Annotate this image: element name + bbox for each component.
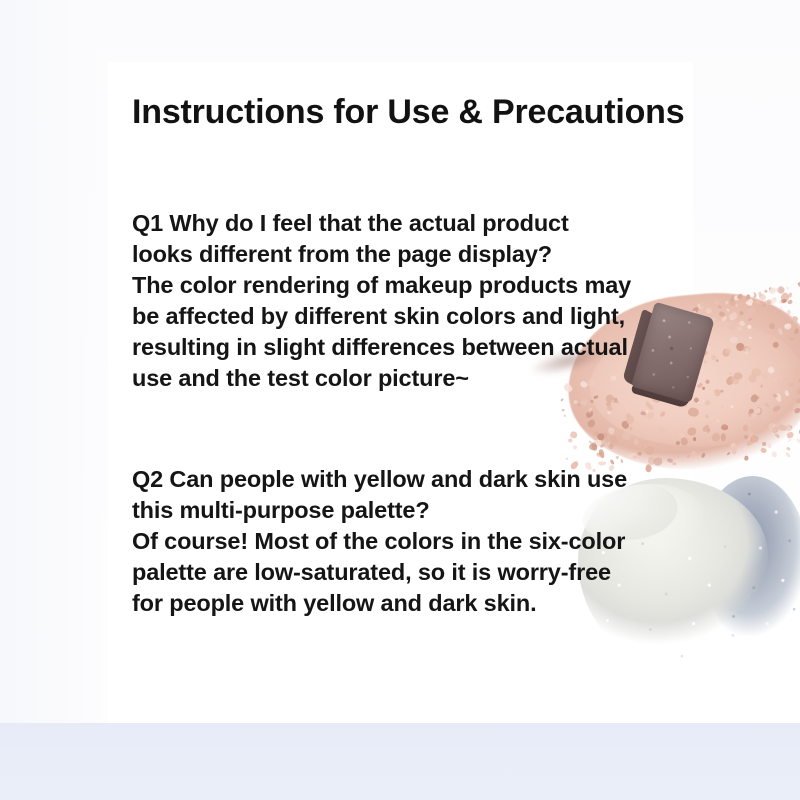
powder-crumb bbox=[777, 328, 783, 335]
powder-crumb bbox=[748, 337, 752, 340]
faq-question: Q2 Can people with yellow and dark skin … bbox=[132, 464, 632, 526]
powder-crumb bbox=[793, 327, 799, 334]
powder-crumb bbox=[761, 384, 763, 387]
powder-crumb bbox=[749, 436, 758, 443]
faq-answer: Of course! Most of the colors in the six… bbox=[132, 526, 632, 619]
powder-crumb bbox=[768, 322, 775, 330]
powder-crumb bbox=[747, 374, 757, 384]
powder-crumb bbox=[774, 378, 777, 381]
powder-crumb bbox=[762, 442, 766, 446]
powder-crumb bbox=[783, 390, 789, 397]
powder-crumb bbox=[746, 306, 756, 316]
powder-crumb bbox=[793, 367, 800, 378]
page-title: Instructions for Use & Precautions bbox=[132, 92, 662, 132]
powder-crumb bbox=[784, 323, 792, 330]
powder-crumb bbox=[777, 424, 787, 432]
powder-crumb bbox=[675, 440, 680, 445]
powder-crumb bbox=[796, 438, 800, 445]
powder-crumb bbox=[729, 336, 737, 343]
powder-crumb bbox=[730, 405, 733, 408]
faq-item-q1: Q1 Why do I feel that the actual product… bbox=[132, 208, 662, 394]
powder-crumb bbox=[792, 316, 799, 323]
faq-answer: The color rendering of makeup products m… bbox=[132, 270, 632, 394]
powder-crumb bbox=[721, 405, 724, 408]
powder-crumb bbox=[705, 379, 711, 385]
powder-crumb bbox=[728, 371, 732, 375]
powder-crumb bbox=[785, 452, 791, 459]
powder-crumb bbox=[796, 398, 800, 403]
powder-crumb bbox=[758, 292, 762, 297]
powder-crumb bbox=[761, 372, 769, 380]
content-column: Instructions for Use & Precautions Q1 Wh… bbox=[132, 92, 662, 619]
powder-crumb bbox=[732, 447, 738, 455]
powder-crumb bbox=[753, 296, 757, 299]
powder-crumb bbox=[795, 386, 800, 395]
powder-crumb bbox=[734, 322, 738, 325]
powder-crumb bbox=[763, 289, 768, 294]
powder-crumb bbox=[768, 443, 773, 448]
powder-crumb bbox=[737, 326, 742, 332]
powder-crumb bbox=[786, 431, 795, 440]
powder-crumb bbox=[721, 433, 726, 441]
powder-crumb bbox=[788, 292, 792, 297]
powder-crumb bbox=[690, 450, 697, 458]
powder-crumb bbox=[768, 287, 776, 294]
powder-crumb bbox=[734, 373, 743, 380]
faq-list: Q1 Why do I feel that the actual product… bbox=[132, 208, 662, 619]
powder-crumb bbox=[701, 453, 705, 458]
powder-crumb bbox=[771, 451, 778, 459]
bottom-color-band bbox=[0, 723, 800, 800]
powder-crumb bbox=[686, 454, 689, 457]
powder-crumb bbox=[788, 337, 793, 341]
powder-crumb bbox=[774, 433, 780, 439]
powder-crumb bbox=[683, 415, 686, 417]
powder-crumb bbox=[755, 300, 760, 305]
powder-crumb bbox=[739, 311, 744, 316]
powder-crumb bbox=[748, 318, 753, 322]
powder-crumb bbox=[720, 389, 724, 393]
powder-crumb bbox=[766, 421, 779, 434]
powder-crumb bbox=[693, 437, 696, 441]
powder-crumb bbox=[687, 407, 699, 417]
powder-crumb bbox=[716, 419, 720, 423]
powder-crumb bbox=[718, 369, 721, 372]
powder-crumb bbox=[672, 462, 676, 465]
powder-crumb bbox=[760, 448, 767, 455]
powder-crumb bbox=[726, 451, 731, 456]
faq-question: Q1 Why do I feel that the actual product… bbox=[132, 208, 632, 270]
powder-crumb bbox=[743, 448, 746, 451]
product-detail-page: Instructions for Use & Precautions Q1 Wh… bbox=[0, 0, 800, 800]
powder-crumb bbox=[702, 387, 706, 391]
faq-item-q2: Q2 Can people with yellow and dark skin … bbox=[132, 464, 662, 619]
powder-crumb bbox=[772, 405, 782, 414]
powder-crumb bbox=[787, 310, 791, 315]
powder-crumb bbox=[726, 308, 729, 311]
powder-crumb bbox=[717, 304, 722, 308]
powder-crumb bbox=[705, 414, 709, 419]
powder-crumb bbox=[728, 311, 739, 322]
powder-crumb bbox=[786, 286, 789, 289]
powder-crumb bbox=[686, 426, 697, 437]
powder-crumb bbox=[747, 324, 752, 329]
powder-crumb bbox=[780, 307, 782, 310]
powder-crumb bbox=[785, 378, 786, 380]
powder-crumb bbox=[786, 447, 791, 451]
powder-crumb bbox=[677, 456, 680, 459]
